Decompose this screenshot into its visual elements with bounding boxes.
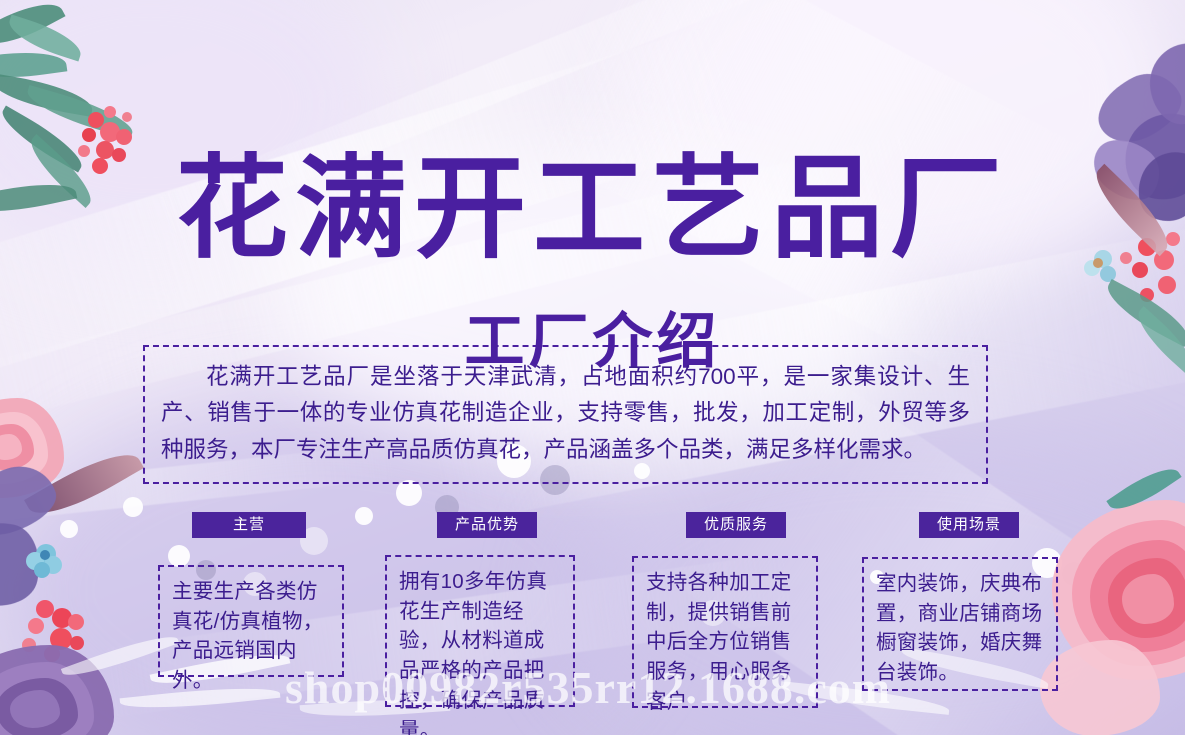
- page-title: 花满开工艺品厂: [0, 153, 1185, 265]
- poster-canvas: 花满开工艺品厂 工厂介绍 花满开工艺品厂是坐落于天津武清，占地面积约700平，是…: [0, 0, 1185, 735]
- section-badge-quality-service[interactable]: 优质服务: [686, 512, 786, 538]
- section-card-use-scenarios: 室内装饰，庆典布置，商业店铺商场橱窗装饰，婚庆舞台装饰。: [862, 557, 1058, 691]
- section-card-use-scenarios-text: 室内装饰，庆典布置，商业店铺商场橱窗装饰，婚庆舞台装饰。: [876, 569, 1046, 688]
- section-badge-product-advantage[interactable]: 产品优势: [437, 512, 537, 538]
- section-badge-use-scenarios[interactable]: 使用场景: [919, 512, 1019, 538]
- section-badge-main-business[interactable]: 主营: [192, 512, 306, 538]
- factory-intro-box: 花满开工艺品厂是坐落于天津武清，占地面积约700平，是一家集设计、生产、销售于一…: [143, 345, 988, 484]
- factory-intro-text: 花满开工艺品厂是坐落于天津武清，占地面积约700平，是一家集设计、生产、销售于一…: [161, 359, 970, 468]
- shop-watermark: shop00982r535rr12.1688.com: [285, 661, 891, 714]
